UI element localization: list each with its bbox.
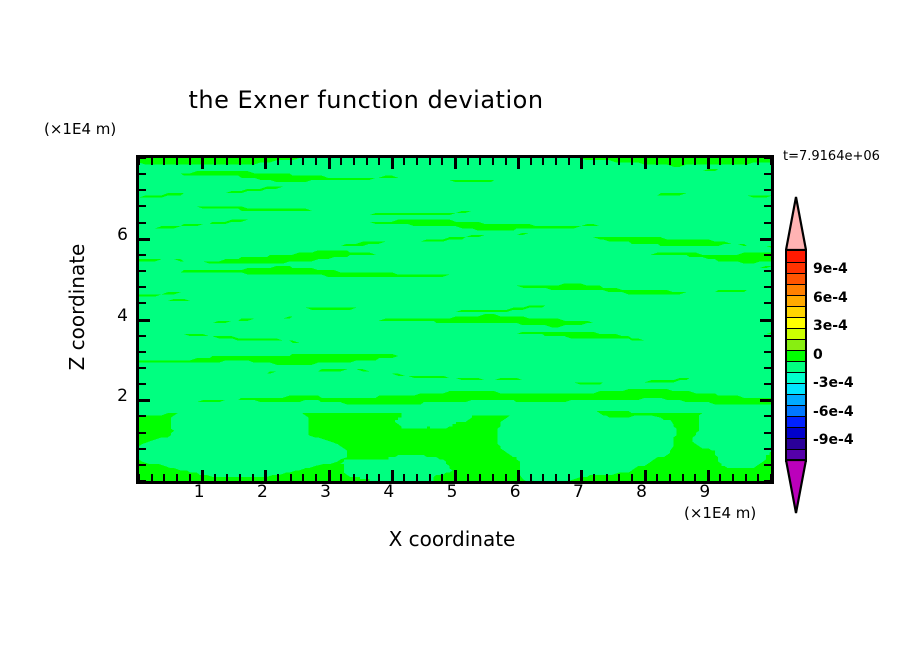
x-minor-tick <box>403 474 405 481</box>
y-tick-label: 2 <box>88 386 128 406</box>
x-minor-tick <box>378 474 380 481</box>
x-major-tick-top <box>517 158 520 169</box>
y-minor-tick-right <box>764 480 771 482</box>
y-minor-tick-right <box>764 383 771 385</box>
x-major-tick-top <box>580 158 583 169</box>
colorbar-segment <box>787 383 805 395</box>
x-major-tick-top <box>707 158 710 169</box>
x-major-tick <box>644 470 647 481</box>
y-minor-tick-right <box>764 432 771 434</box>
x-major-tick <box>201 470 204 481</box>
x-tick-label: 5 <box>432 482 472 502</box>
figure-canvas: the Exner function deviation (×1E4 m) (×… <box>0 0 904 654</box>
x-major-tick <box>517 470 520 481</box>
colorbar-tick-label: -6e-4 <box>813 404 854 420</box>
y-minor-tick-right <box>764 222 771 224</box>
x-minor-tick-top <box>176 158 178 165</box>
y-minor-tick <box>139 205 146 207</box>
y-minor-tick-right <box>764 448 771 450</box>
x-tick-label: 2 <box>242 482 282 502</box>
y-minor-tick-right <box>764 286 771 288</box>
x-minor-tick <box>618 474 620 481</box>
y-minor-tick <box>139 448 146 450</box>
x-minor-tick <box>277 474 279 481</box>
x-minor-tick <box>302 474 304 481</box>
x-minor-tick-top <box>593 158 595 165</box>
x-minor-tick-top <box>732 158 734 165</box>
colorbar-segment-divider <box>787 295 805 296</box>
colorbar-segment <box>787 306 805 318</box>
y-minor-tick-right <box>764 367 771 369</box>
x-minor-tick <box>568 474 570 481</box>
colorbar-segment-divider <box>787 317 805 318</box>
y-minor-tick-right <box>764 254 771 256</box>
x-tick-label: 4 <box>369 482 409 502</box>
x-minor-tick-top <box>189 158 191 165</box>
y-minor-tick <box>139 367 146 369</box>
x-minor-tick <box>353 474 355 481</box>
colorbar-segment-divider <box>787 328 805 329</box>
y-minor-tick <box>139 222 146 224</box>
x-minor-tick-top <box>429 158 431 165</box>
colorbar-segment <box>787 416 805 428</box>
x-minor-tick-top <box>719 158 721 165</box>
x-minor-tick-top <box>555 158 557 165</box>
y-minor-tick <box>139 464 146 466</box>
x-minor-tick-top <box>682 158 684 165</box>
x-major-tick <box>264 470 267 481</box>
x-major-tick-top <box>391 158 394 169</box>
y-minor-tick <box>139 302 146 304</box>
x-minor-tick-top <box>151 158 153 165</box>
y-minor-tick <box>139 432 146 434</box>
colorbar-segment <box>787 284 805 296</box>
time-annotation: t=7.9164e+06 <box>783 149 880 164</box>
y-minor-tick <box>139 335 146 337</box>
colorbar-segment <box>787 427 805 439</box>
x-minor-tick-top <box>467 158 469 165</box>
x-minor-tick <box>606 474 608 481</box>
y-minor-tick <box>139 173 146 175</box>
x-minor-tick-top <box>669 158 671 165</box>
x-minor-tick <box>492 474 494 481</box>
y-major-tick-right <box>760 238 771 241</box>
x-minor-tick <box>163 474 165 481</box>
x-minor-tick-top <box>568 158 570 165</box>
x-minor-tick <box>315 474 317 481</box>
colorbar-segment-divider <box>787 306 805 307</box>
x-minor-tick <box>479 474 481 481</box>
x-minor-tick <box>719 474 721 481</box>
y-minor-tick-right <box>764 464 771 466</box>
colorbar-segment <box>787 361 805 373</box>
x-minor-tick-top <box>226 158 228 165</box>
x-minor-tick <box>555 474 557 481</box>
x-tick-label: 9 <box>685 482 725 502</box>
y-minor-tick <box>139 383 146 385</box>
x-major-tick <box>454 470 457 481</box>
colorbar-segment-divider <box>787 405 805 406</box>
y-minor-tick-right <box>764 270 771 272</box>
colorbar-tick-label: 0 <box>813 347 823 363</box>
x-minor-tick-top <box>530 158 532 165</box>
y-major-tick <box>139 319 150 322</box>
x-minor-tick-top <box>302 158 304 165</box>
colorbar-under-arrow-icon <box>785 459 807 514</box>
x-major-tick <box>580 470 583 481</box>
x-minor-tick <box>151 474 153 481</box>
y-minor-tick <box>139 254 146 256</box>
x-minor-tick-top <box>441 158 443 165</box>
x-minor-tick <box>732 474 734 481</box>
x-minor-tick <box>682 474 684 481</box>
colorbar-segment <box>787 438 805 450</box>
x-minor-tick <box>290 474 292 481</box>
x-minor-tick-top <box>618 158 620 165</box>
y-minor-tick <box>139 351 146 353</box>
x-minor-tick <box>757 474 759 481</box>
y-major-tick-right <box>760 319 771 322</box>
y-minor-tick-right <box>764 335 771 337</box>
x-major-tick-top <box>328 158 331 169</box>
x-minor-tick-top <box>277 158 279 165</box>
colorbar-segment <box>787 273 805 285</box>
y-minor-tick <box>139 189 146 191</box>
x-tick-label: 8 <box>622 482 662 502</box>
y-axis-unit-label: (×1E4 m) <box>44 120 116 138</box>
y-minor-tick-right <box>764 205 771 207</box>
colorbar-segment-divider <box>787 273 805 274</box>
colorbar-segment-divider <box>787 339 805 340</box>
x-minor-tick-top <box>416 158 418 165</box>
x-major-tick-top <box>201 158 204 169</box>
chart-title: the Exner function deviation <box>0 86 818 114</box>
x-minor-tick <box>542 474 544 481</box>
x-minor-tick-top <box>656 158 658 165</box>
x-minor-tick <box>214 474 216 481</box>
y-minor-tick <box>139 286 146 288</box>
x-minor-tick-top <box>492 158 494 165</box>
x-minor-tick-top <box>403 158 405 165</box>
x-minor-tick <box>669 474 671 481</box>
x-minor-tick <box>189 474 191 481</box>
colorbar-segment-divider <box>787 427 805 428</box>
x-major-tick-top <box>264 158 267 169</box>
contour-field <box>139 158 771 481</box>
colorbar-segment-divider <box>787 361 805 362</box>
x-minor-tick-top <box>631 158 633 165</box>
colorbar-segment <box>787 372 805 384</box>
x-minor-tick <box>176 474 178 481</box>
x-major-tick <box>391 470 394 481</box>
x-minor-tick <box>745 474 747 481</box>
colorbar-segment-divider <box>787 372 805 373</box>
colorbar-segment <box>787 251 805 263</box>
y-major-tick-right <box>760 399 771 402</box>
colorbar-segment <box>787 317 805 329</box>
x-axis-title: X coordinate <box>136 527 768 551</box>
x-minor-tick-top <box>606 158 608 165</box>
colorbar-segment-divider <box>787 350 805 351</box>
x-minor-tick-top <box>252 158 254 165</box>
x-tick-label: 7 <box>558 482 598 502</box>
colorbar-segment <box>787 394 805 406</box>
y-minor-tick <box>139 157 146 159</box>
x-minor-tick-top <box>353 158 355 165</box>
x-minor-tick-top <box>366 158 368 165</box>
x-minor-tick-top <box>239 158 241 165</box>
x-minor-tick <box>429 474 431 481</box>
x-tick-label: 6 <box>495 482 535 502</box>
y-tick-label: 6 <box>88 225 128 245</box>
y-minor-tick-right <box>764 157 771 159</box>
x-major-tick-top <box>644 158 647 169</box>
x-minor-tick-top <box>315 158 317 165</box>
y-tick-label: 4 <box>88 306 128 326</box>
x-minor-tick <box>694 474 696 481</box>
x-minor-tick <box>252 474 254 481</box>
y-minor-tick <box>139 415 146 417</box>
colorbar-tick-label: 9e-4 <box>813 261 848 277</box>
x-minor-tick <box>631 474 633 481</box>
x-minor-tick <box>593 474 595 481</box>
x-minor-tick-top <box>757 158 759 165</box>
colorbar-segment <box>787 295 805 307</box>
y-minor-tick-right <box>764 351 771 353</box>
x-minor-tick-top <box>163 158 165 165</box>
colorbar-segment-divider <box>787 284 805 285</box>
x-minor-tick <box>340 474 342 481</box>
colorbar: 9e-46e-43e-40-3e-4-6e-4-9e-4 <box>785 196 807 514</box>
x-minor-tick <box>656 474 658 481</box>
x-minor-tick <box>441 474 443 481</box>
colorbar-segment-divider <box>787 438 805 439</box>
y-minor-tick-right <box>764 173 771 175</box>
x-minor-tick-top <box>378 158 380 165</box>
colorbar-tick-label: 3e-4 <box>813 318 848 334</box>
x-major-tick-top <box>454 158 457 169</box>
colorbar-gradient <box>785 249 807 462</box>
x-major-tick <box>328 470 331 481</box>
y-minor-tick <box>139 480 146 482</box>
colorbar-segment <box>787 339 805 351</box>
colorbar-tick-label: -3e-4 <box>813 375 854 391</box>
x-minor-tick-top <box>694 158 696 165</box>
x-minor-tick-top <box>214 158 216 165</box>
colorbar-segment <box>787 262 805 274</box>
x-tick-label: 1 <box>179 482 219 502</box>
colorbar-over-arrow-icon <box>785 196 807 251</box>
x-axis-unit-label: (×1E4 m) <box>684 504 756 522</box>
x-minor-tick-top <box>542 158 544 165</box>
x-minor-tick <box>226 474 228 481</box>
colorbar-tick-label: 6e-4 <box>813 290 848 306</box>
x-minor-tick-top <box>479 158 481 165</box>
y-minor-tick-right <box>764 189 771 191</box>
y-minor-tick-right <box>764 415 771 417</box>
x-tick-label: 3 <box>306 482 346 502</box>
x-minor-tick <box>530 474 532 481</box>
colorbar-segment-divider <box>787 449 805 450</box>
x-minor-tick-top <box>290 158 292 165</box>
y-major-tick <box>139 399 150 402</box>
x-minor-tick-top <box>505 158 507 165</box>
colorbar-segment <box>787 405 805 417</box>
colorbar-segment <box>787 328 805 340</box>
y-minor-tick-right <box>764 302 771 304</box>
x-minor-tick <box>416 474 418 481</box>
colorbar-segment-divider <box>787 416 805 417</box>
y-axis-title: Z coordinate <box>65 217 89 397</box>
plot-area <box>136 155 774 484</box>
x-major-tick <box>707 470 710 481</box>
colorbar-segment-divider <box>787 394 805 395</box>
x-minor-tick-top <box>138 158 140 165</box>
x-minor-tick <box>366 474 368 481</box>
y-major-tick <box>139 238 150 241</box>
x-minor-tick <box>239 474 241 481</box>
colorbar-tick-label: -9e-4 <box>813 432 854 448</box>
x-minor-tick-top <box>340 158 342 165</box>
colorbar-segment-divider <box>787 262 805 263</box>
colorbar-segment <box>787 350 805 362</box>
x-minor-tick-top <box>770 158 772 165</box>
colorbar-segment-divider <box>787 383 805 384</box>
y-minor-tick <box>139 270 146 272</box>
x-minor-tick <box>467 474 469 481</box>
x-minor-tick-top <box>745 158 747 165</box>
x-minor-tick <box>505 474 507 481</box>
